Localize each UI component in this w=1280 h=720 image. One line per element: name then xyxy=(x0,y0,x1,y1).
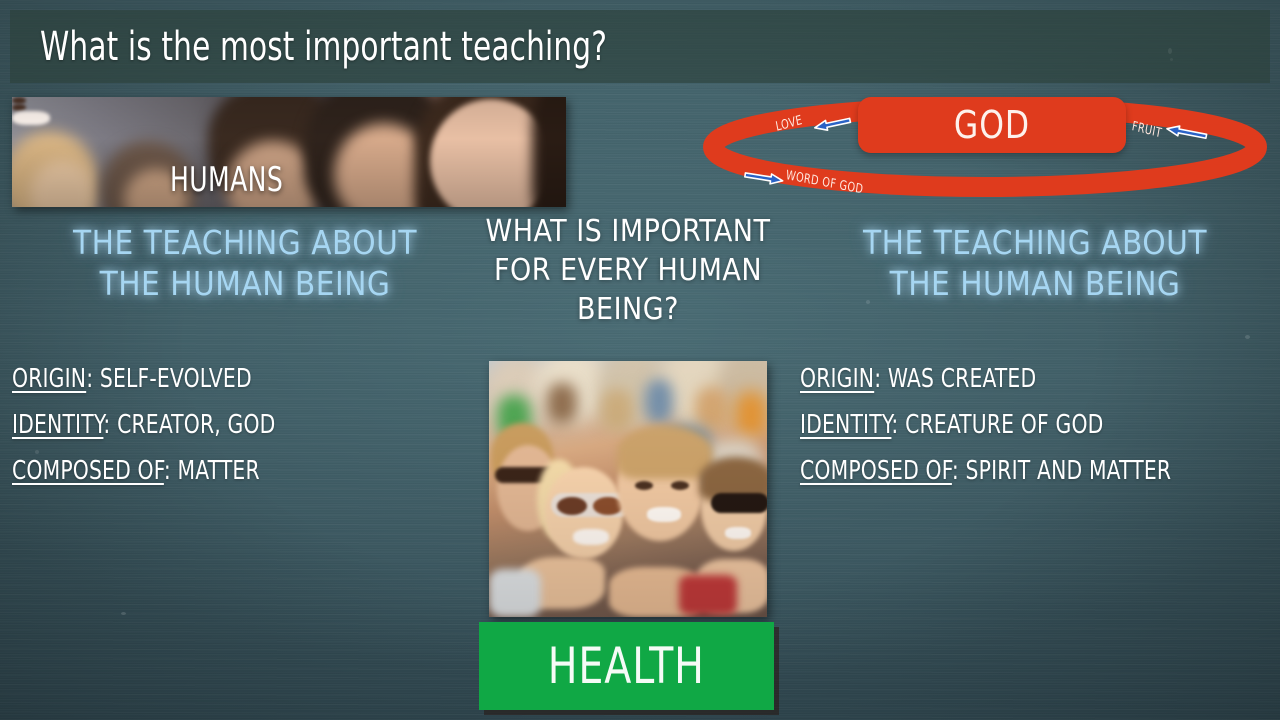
right-row-identity-value: : CREATURE OF GOD xyxy=(891,410,1103,440)
left-row-identity: IDENTITY: CREATOR, GOD xyxy=(12,402,276,448)
center-column-heading: WHAT IS IMPORTANT FOR EVERY HUMAN BEING? xyxy=(472,212,784,329)
right-row-composed-of-key: COMPOSED OF xyxy=(800,456,952,486)
crowd-image xyxy=(489,361,767,617)
humans-banner-image xyxy=(12,97,566,207)
left-column-heading: THE TEACHING ABOUT THE HUMAN BEING xyxy=(10,222,480,304)
god-diagram: LOVE FRUIT WORD OF GOD GOD xyxy=(700,90,1270,205)
god-center-label: GOD xyxy=(869,97,1116,153)
left-row-origin-value: : SELF-EVOLVED xyxy=(86,364,252,394)
right-column-heading: THE TEACHING ABOUT THE HUMAN BEING xyxy=(800,222,1270,304)
left-column-body: ORIGIN: SELF-EVOLVED IDENTITY: CREATOR, … xyxy=(12,356,315,494)
right-row-origin-key: ORIGIN xyxy=(800,364,874,394)
right-row-origin: ORIGIN: WAS CREATED xyxy=(800,356,1171,402)
humans-banner-label: HUMANS xyxy=(170,160,283,200)
slide-title-bar: What is the most important teaching? xyxy=(10,10,1270,83)
chalk-speck xyxy=(121,612,126,615)
left-row-identity-value: : CREATOR, GOD xyxy=(103,410,275,440)
right-row-identity-key: IDENTITY xyxy=(800,410,891,440)
presentation-slide: What is the most important teaching? HUM… xyxy=(0,0,1280,720)
right-row-composed-of-value: : SPIRIT AND MATTER xyxy=(952,456,1171,486)
right-column-body: ORIGIN: WAS CREATED IDENTITY: CREATURE O… xyxy=(800,356,1227,494)
right-row-composed-of: COMPOSED OF: SPIRIT AND MATTER xyxy=(800,448,1171,494)
chalk-speck xyxy=(1245,335,1250,339)
left-row-origin-key: ORIGIN xyxy=(12,364,86,394)
page-title: What is the most important teaching? xyxy=(40,16,607,78)
left-row-composed-of: COMPOSED OF: MATTER xyxy=(12,448,276,494)
right-row-identity: IDENTITY: CREATURE OF GOD xyxy=(800,402,1171,448)
health-button-label: HEALTH xyxy=(548,637,705,695)
right-row-origin-value: : WAS CREATED xyxy=(874,364,1036,394)
god-center-box: GOD xyxy=(858,97,1126,153)
left-row-identity-key: IDENTITY xyxy=(12,410,103,440)
left-row-origin: ORIGIN: SELF-EVOLVED xyxy=(12,356,276,402)
health-button[interactable]: HEALTH xyxy=(479,622,774,710)
left-row-composed-of-key: COMPOSED OF xyxy=(12,456,164,486)
left-row-composed-of-value: : MATTER xyxy=(164,456,260,486)
